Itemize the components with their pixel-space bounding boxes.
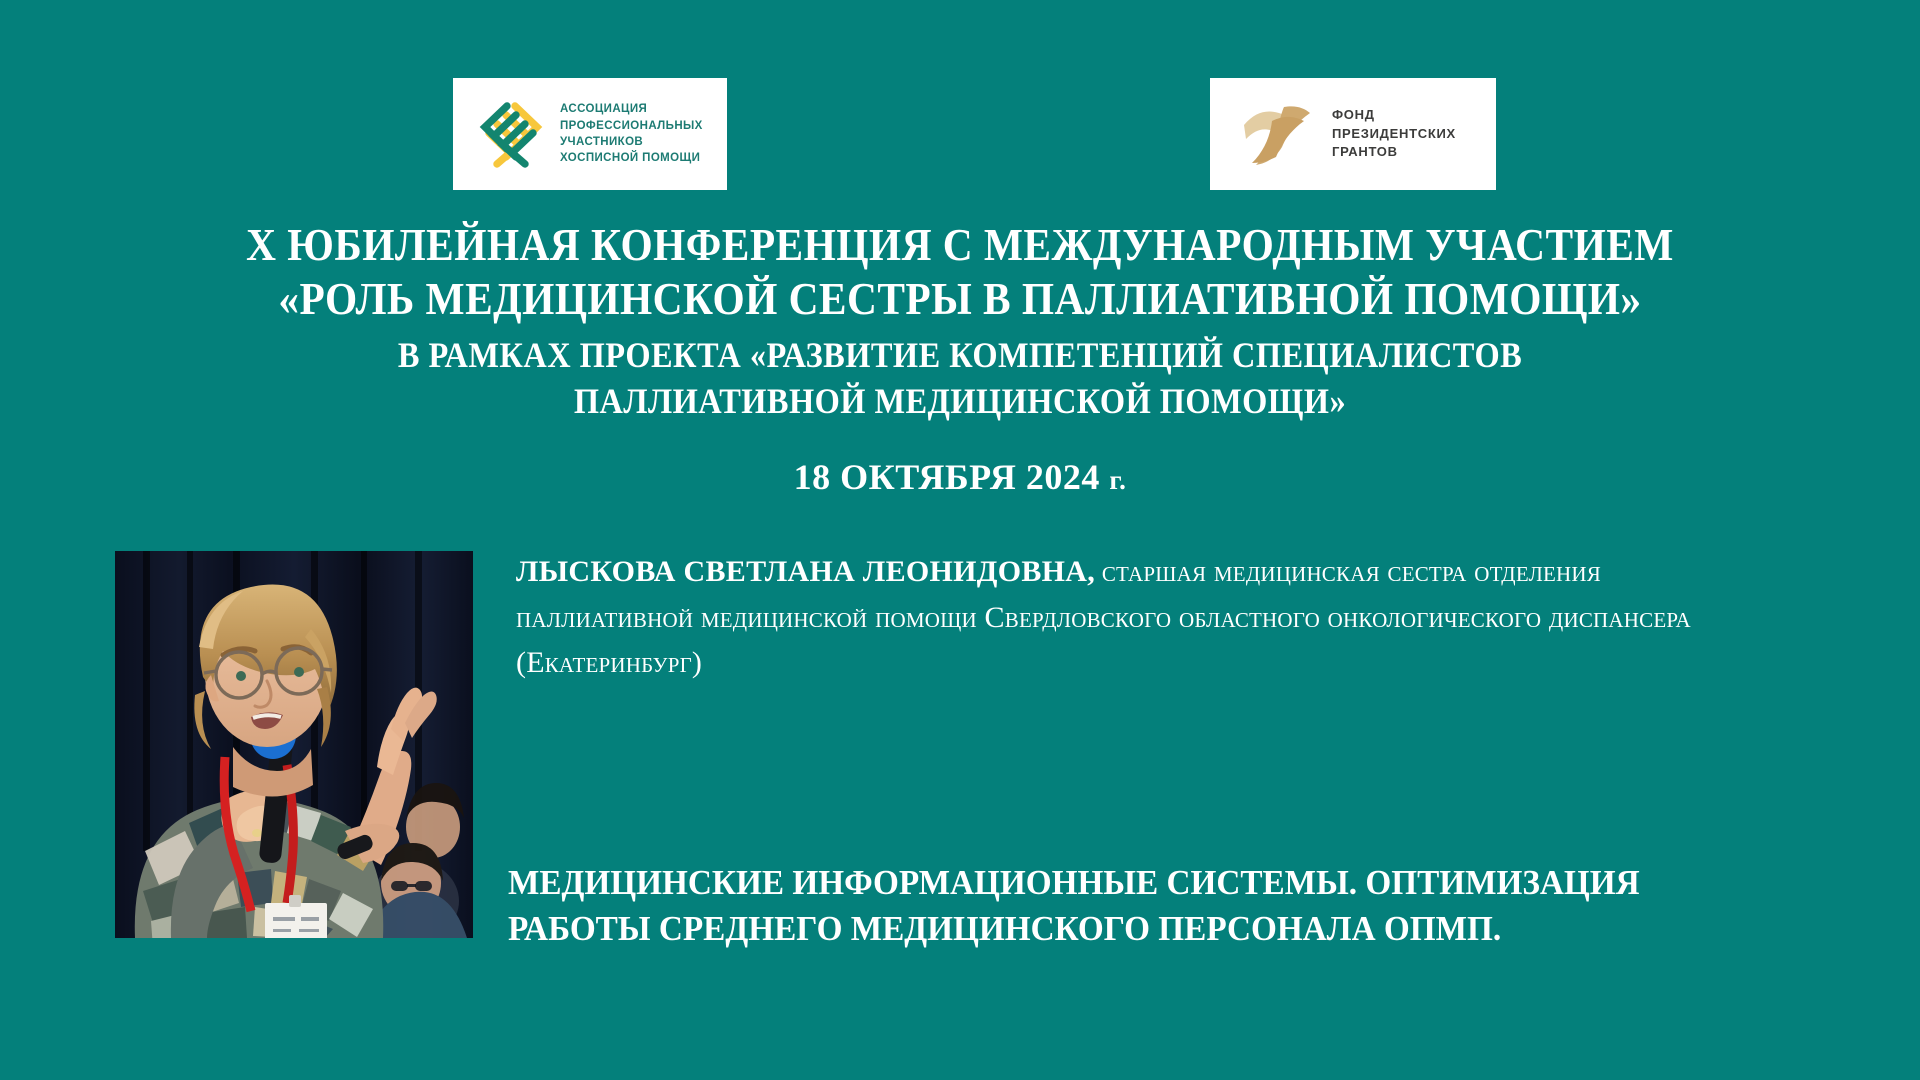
event-date-suffix: г. [1109,465,1126,495]
speaker-description: ЛЫСКОВА СВЕТЛАНА ЛЕОНИДОВНА, старшая мед… [516,549,1731,686]
event-date-value: 18 ОКТЯБРЯ 2024 [794,457,1100,497]
assoc-line-2: ПРОФЕССИОНАЛЬНЫХ [560,120,703,132]
logo-presidential-grants-fund: ФОНД ПРЕЗИДЕНТСКИХ ГРАНТОВ [1210,78,1496,190]
speaker-name: ЛЫСКОВА СВЕТЛАНА ЛЕОНИДОВНА, [516,555,1095,588]
conference-title-line-1: X ЮБИЛЕЙНАЯ КОНФЕРЕНЦИЯ С МЕЖДУНАРОДНЫМ … [96,218,1824,271]
logo-hospice-association-text: АССОЦИАЦИЯ ПРОФЕССИОНАЛЬНЫХ УЧАСТНИКОВ Х… [560,101,703,166]
assoc-line-4: ХОСПИСНОЙ ПОМОЩИ [560,152,700,164]
logo-presidential-grants-text: ФОНД ПРЕЗИДЕНТСКИХ ГРАНТОВ [1332,106,1456,161]
presentation-slide: АССОЦИАЦИЯ ПРОФЕССИОНАЛЬНЫХ УЧАСТНИКОВ Х… [0,0,1920,1080]
grants-line-2: ПРЕЗИДЕНТСКИХ [1332,126,1456,141]
conference-title-line-2: «РОЛЬ МЕДИЦИНСКОЙ СЕСТРЫ В ПАЛЛИАТИВНОЙ … [96,272,1824,325]
logo-hospice-association: АССОЦИАЦИЯ ПРОФЕССИОНАЛЬНЫХ УЧАСТНИКОВ Х… [453,78,727,190]
assoc-line-1: АССОЦИАЦИЯ [560,103,647,115]
assoc-line-3: УЧАСТНИКОВ [560,136,643,148]
talk-title-line-1: МЕДИЦИНСКИЕ ИНФОРМАЦИОННЫЕ СИСТЕМЫ. ОПТИ… [508,860,1705,906]
grants-line-3: ГРАНТОВ [1332,144,1398,159]
speaker-photo-image [115,551,473,938]
hospice-association-hands-icon [475,95,547,173]
talk-title: МЕДИЦИНСКИЕ ИНФОРМАЦИОННЫЕ СИСТЕМЫ. ОПТИ… [508,860,1705,952]
conference-subtitle-line-2: ПАЛЛИАТИВНОЙ МЕДИЦИНСКОЙ ПОМОЩИ» [96,380,1824,422]
grants-line-1: ФОНД [1332,107,1375,122]
speaker-photo [115,551,473,938]
presidential-grants-flag-icon [1238,99,1316,169]
conference-subtitle-line-1: В РАМКАХ ПРОЕКТА «РАЗВИТИЕ КОМПЕТЕНЦИЙ С… [96,334,1824,376]
talk-title-line-2: РАБОТЫ СРЕДНЕГО МЕДИЦИНСКОГО ПЕРСОНАЛА О… [508,906,1705,952]
event-date: 18 ОКТЯБРЯ 2024 г. [0,456,1920,498]
